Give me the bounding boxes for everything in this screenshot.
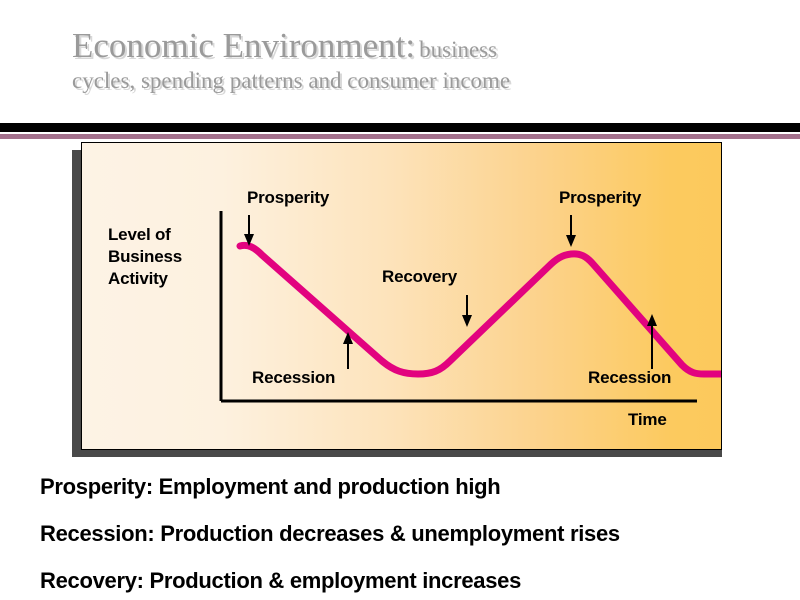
page-title-subject: business xyxy=(419,37,497,62)
slide-title-block: Economic Environment: business cycles, s… xyxy=(72,26,772,94)
page-title: Economic Environment: business xyxy=(72,26,772,65)
annotation-recession-2: Recession xyxy=(588,368,671,388)
y-axis-label-line-2: Business xyxy=(108,246,182,268)
y-axis-label-line-3: Activity xyxy=(108,268,182,290)
bullet-recession: Recession: Production decreases & unempl… xyxy=(40,521,620,547)
arrow-prosperity-2-icon xyxy=(566,215,576,247)
annotation-prosperity-2: Prosperity xyxy=(559,188,641,208)
business-cycle-curve xyxy=(240,245,721,374)
y-axis-label-line-1: Level of xyxy=(108,224,182,246)
x-axis-label: Time xyxy=(628,410,667,430)
divider-accent-line xyxy=(0,134,800,139)
bullet-recovery: Recovery: Production & employment increa… xyxy=(40,568,521,594)
annotation-prosperity-1: Prosperity xyxy=(247,188,329,208)
page-title-main: Economic Environment: xyxy=(72,26,415,65)
annotation-recovery: Recovery xyxy=(382,267,457,287)
bullet-prosperity: Prosperity: Employment and production hi… xyxy=(40,474,500,500)
annotation-recession-1: Recession xyxy=(252,368,335,388)
arrow-prosperity-1-icon xyxy=(244,215,254,246)
arrow-recovery-icon xyxy=(462,295,472,327)
page-subtitle: cycles, spending patterns and consumer i… xyxy=(72,68,772,94)
y-axis-label: Level of Business Activity xyxy=(108,224,182,290)
divider-bar xyxy=(0,123,800,132)
